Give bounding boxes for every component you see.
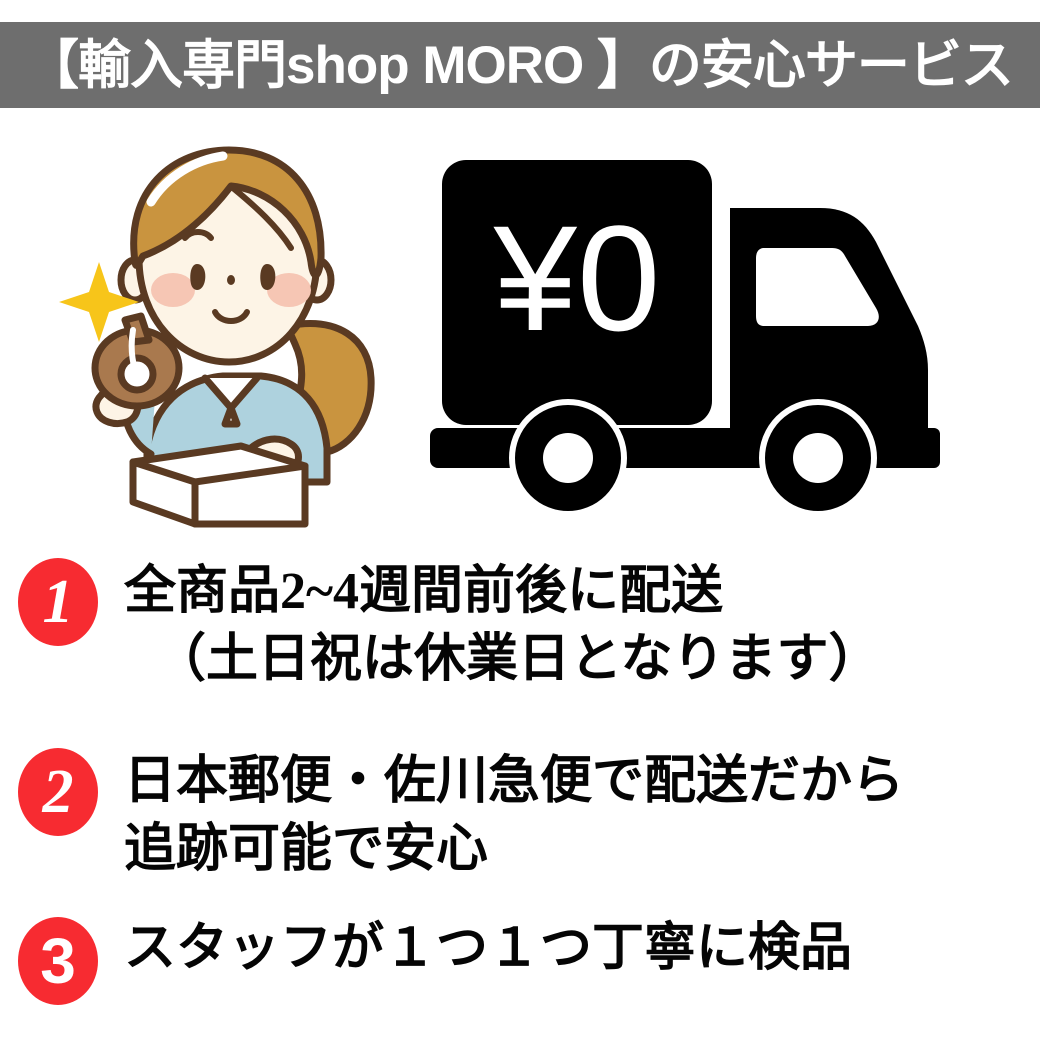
delivery-truck-icon: ¥0 — [412, 140, 1012, 520]
free-shipping-truck-illustration: ¥0 — [412, 140, 1012, 520]
badge-number: 2 — [18, 748, 98, 836]
status-badge: 2 — [18, 748, 98, 836]
header-banner: 【輸入専門shop MORO 】の安心サービス — [0, 22, 1040, 108]
status-badge: 3 — [18, 917, 98, 1005]
benefit-line: 追跡可能で安心 — [124, 816, 1040, 884]
staff-woman-icon — [55, 130, 405, 530]
service-info-graphic: 【輸入専門shop MORO 】の安心サービス — [0, 0, 1040, 1040]
benefit-line: スタッフが１つ１つ丁寧に検品 — [124, 915, 1040, 983]
free-shipping-label: ¥0 — [493, 194, 661, 362]
list-item-text: 全商品2~4週間前後に配送 （土日祝は休業日となります） — [124, 558, 1040, 693]
list-item-text: スタッフが１つ１つ丁寧に検品 — [124, 915, 1040, 983]
badge-number: 1 — [18, 558, 98, 646]
benefit-line: 日本郵便・佐川急便で配送だから — [124, 748, 1040, 816]
staff-woman-illustration — [55, 130, 405, 530]
list-item-text: 日本郵便・佐川急便で配送だから 追跡可能で安心 — [124, 748, 1040, 883]
list-item: 3 スタッフが１つ１つ丁寧に検品 — [0, 915, 1040, 1005]
status-badge: 1 — [18, 558, 98, 646]
illustration-area: ¥0 — [0, 120, 1040, 530]
list-item: 2 日本郵便・佐川急便で配送だから 追跡可能で安心 — [0, 748, 1040, 883]
benefit-line: （土日祝は休業日となります） — [124, 626, 1040, 694]
benefit-line: 全商品2~4週間前後に配送 — [124, 558, 1040, 626]
page-title: 【輸入専門shop MORO 】の安心サービス — [26, 39, 1013, 92]
badge-number: 3 — [18, 917, 98, 1005]
benefits-list: 1 全商品2~4週間前後に配送 （土日祝は休業日となります） 2 日本郵便・佐川… — [0, 540, 1040, 1040]
list-item: 1 全商品2~4週間前後に配送 （土日祝は休業日となります） — [0, 558, 1040, 693]
